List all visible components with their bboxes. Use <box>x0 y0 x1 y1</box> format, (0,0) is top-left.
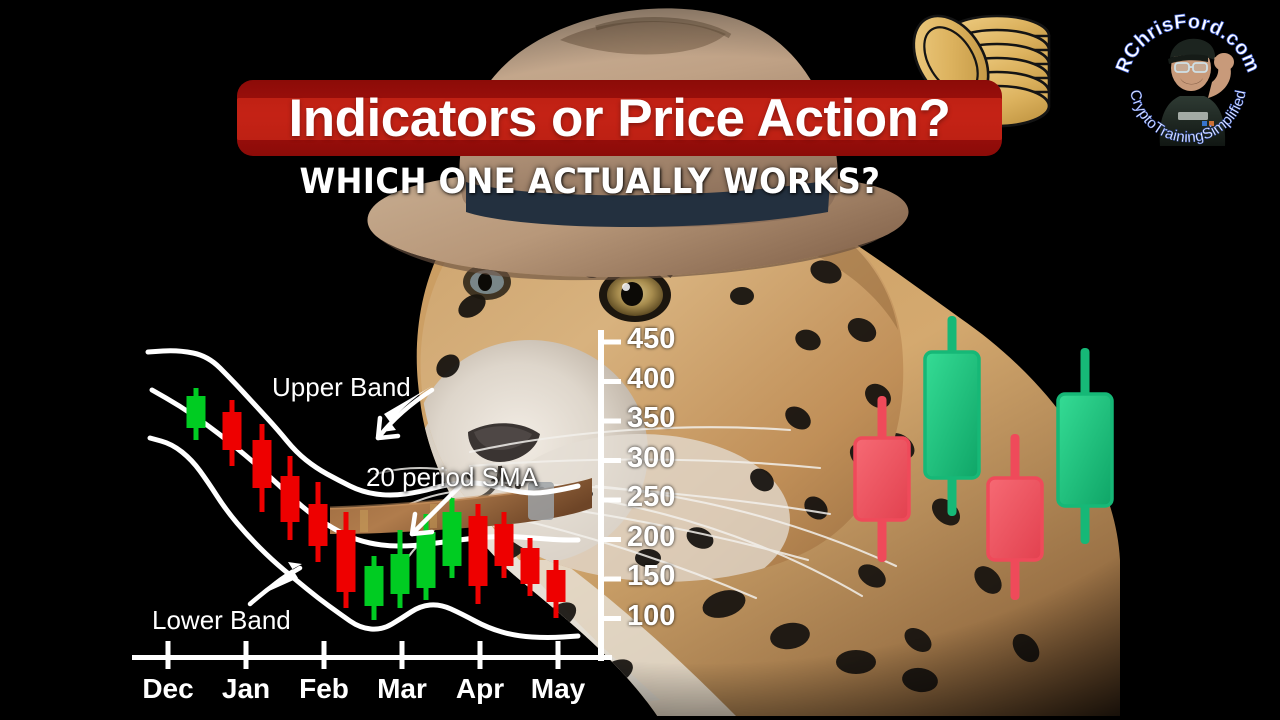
channel-logo-badge[interactable]: RChrisFord.com CryptoTrainingSimplified <box>1112 6 1264 158</box>
page-title: Indicators or Price Action? <box>237 80 1002 156</box>
thumbnail-canvas: Indicators or Price Action? WHICH ONE AC… <box>0 0 1280 720</box>
title-banner: Indicators or Price Action? <box>237 80 1002 156</box>
page-subtitle: WHICH ONE ACTUALLY WORKS? <box>47 162 1133 202</box>
